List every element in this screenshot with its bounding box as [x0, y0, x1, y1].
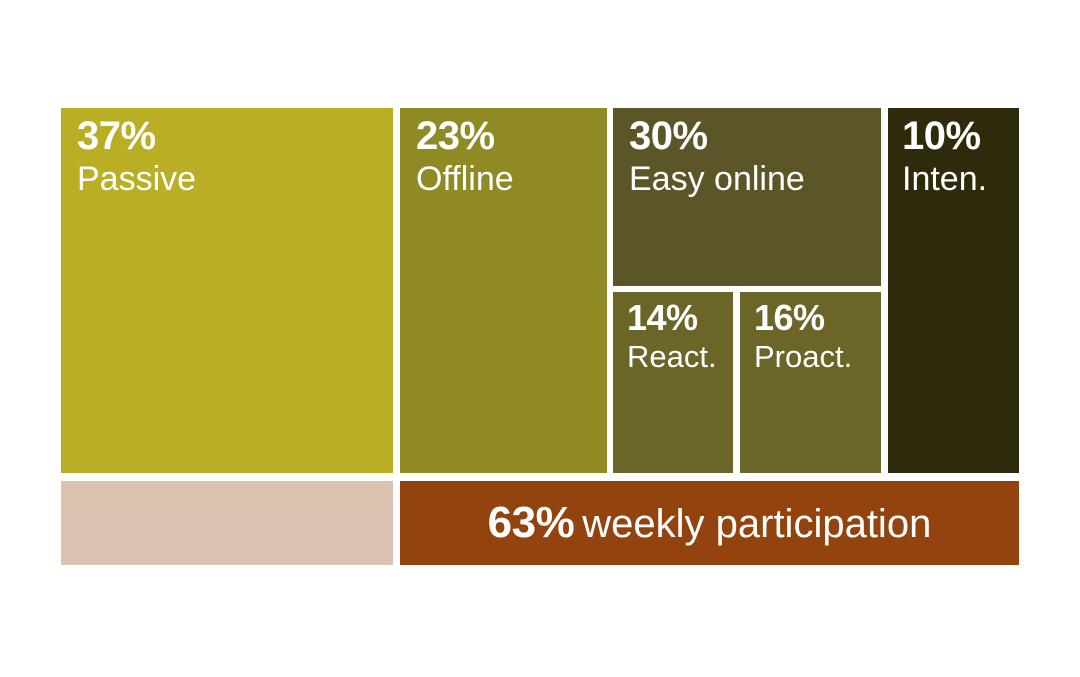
cell-percent-reactive: 14%: [627, 300, 729, 336]
cell-label-offline: 23% Offline: [416, 116, 603, 196]
cell-name-reactive: React.: [627, 341, 729, 372]
cell-percent-easy-online: 30%: [629, 116, 877, 156]
summary-bar-weekly-participation[interactable]: 63%weekly participation: [400, 481, 1019, 565]
cell-name-intensive: Inten.: [902, 162, 1015, 196]
treemap-cell-passive[interactable]: 37% Passive: [61, 108, 393, 473]
cell-percent-offline: 23%: [416, 116, 603, 156]
cell-name-offline: Offline: [416, 162, 603, 196]
cell-label-easy-online: 30% Easy online: [629, 116, 877, 196]
treemap-cell-easy-online[interactable]: 30% Easy online: [613, 108, 881, 286]
cell-label-proactive: 16% Proact.: [754, 300, 877, 372]
summary-bar-label: 63%weekly participation: [400, 498, 1019, 548]
cell-label-reactive: 14% React.: [627, 300, 729, 372]
cell-name-passive: Passive: [77, 162, 389, 196]
cell-percent-passive: 37%: [77, 116, 389, 156]
treemap-cell-reactive[interactable]: 14% React.: [613, 292, 733, 473]
treemap-chart: 37% Passive 23% Offline 30% Easy online …: [0, 0, 1080, 677]
cell-label-intensive: 10% Inten.: [902, 116, 1015, 196]
cell-percent-proactive: 16%: [754, 300, 877, 336]
cell-label-passive: 37% Passive: [77, 116, 389, 196]
treemap-cell-proactive[interactable]: 16% Proact.: [740, 292, 881, 473]
treemap-cell-offline[interactable]: 23% Offline: [400, 108, 607, 473]
cell-percent-intensive: 10%: [902, 116, 1015, 156]
treemap-cell-intensive[interactable]: 10% Inten.: [888, 108, 1019, 473]
summary-bar-remainder: [61, 481, 393, 565]
cell-name-proactive: Proact.: [754, 341, 877, 372]
summary-percent: 63%: [488, 498, 575, 547]
summary-caption: weekly participation: [582, 502, 931, 546]
cell-name-easy-online: Easy online: [629, 162, 877, 196]
